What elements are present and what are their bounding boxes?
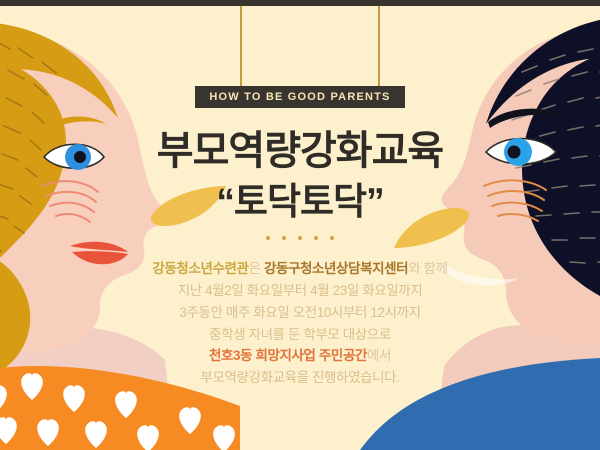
poster-content: HOW TO BE GOOD PARENTS 부모역량강화교육 “토닥토닥” 강…: [0, 0, 600, 450]
page-subtitle: “토닥토닥”: [216, 183, 383, 220]
dot: [266, 236, 270, 240]
body-line-4: 중학생 자녀를 둔 학부모 대상으로: [0, 324, 600, 346]
body-line-1: 강동청소년수련관은 강동구청소년상담복지센터와 함께: [0, 258, 600, 280]
dot: [282, 236, 286, 240]
eyebrow-banner: HOW TO BE GOOD PARENTS: [195, 86, 404, 108]
top-bar: [0, 0, 600, 6]
org-name-primary: 강동청소년수련관: [152, 261, 248, 276]
body-line-5-tail: 에서: [367, 348, 391, 363]
venue-name: 천호3동 희망지사업 주민공간: [209, 348, 367, 363]
body-text-block: 강동청소년수련관은 강동구청소년상담복지센터와 함께 지난 4월2일 화요일부터…: [0, 258, 600, 389]
body-line-3: 3주동안 매주 화요일 오전10시부터 12시까지: [0, 302, 600, 324]
dot: [314, 236, 318, 240]
dot-separator: [266, 236, 334, 240]
dot: [330, 236, 334, 240]
page-title: 부모역량강화교육: [157, 131, 443, 171]
body-line-2: 지난 4월2일 화요일부터 4월 23일 화요일까지: [0, 280, 600, 302]
body-line-1-connector: 은: [249, 261, 264, 276]
body-line-5: 천호3동 희망지사업 주민공간에서: [0, 345, 600, 367]
dot: [298, 236, 302, 240]
poster-canvas: HOW TO BE GOOD PARENTS 부모역량강화교육 “토닥토닥” 강…: [0, 0, 600, 450]
body-line-1-tail: 와 함께: [408, 261, 447, 276]
org-name-secondary: 강동구청소년상담복지센터: [264, 261, 408, 276]
body-line-6: 부모역량강화교육을 진행하였습니다.: [0, 367, 600, 389]
